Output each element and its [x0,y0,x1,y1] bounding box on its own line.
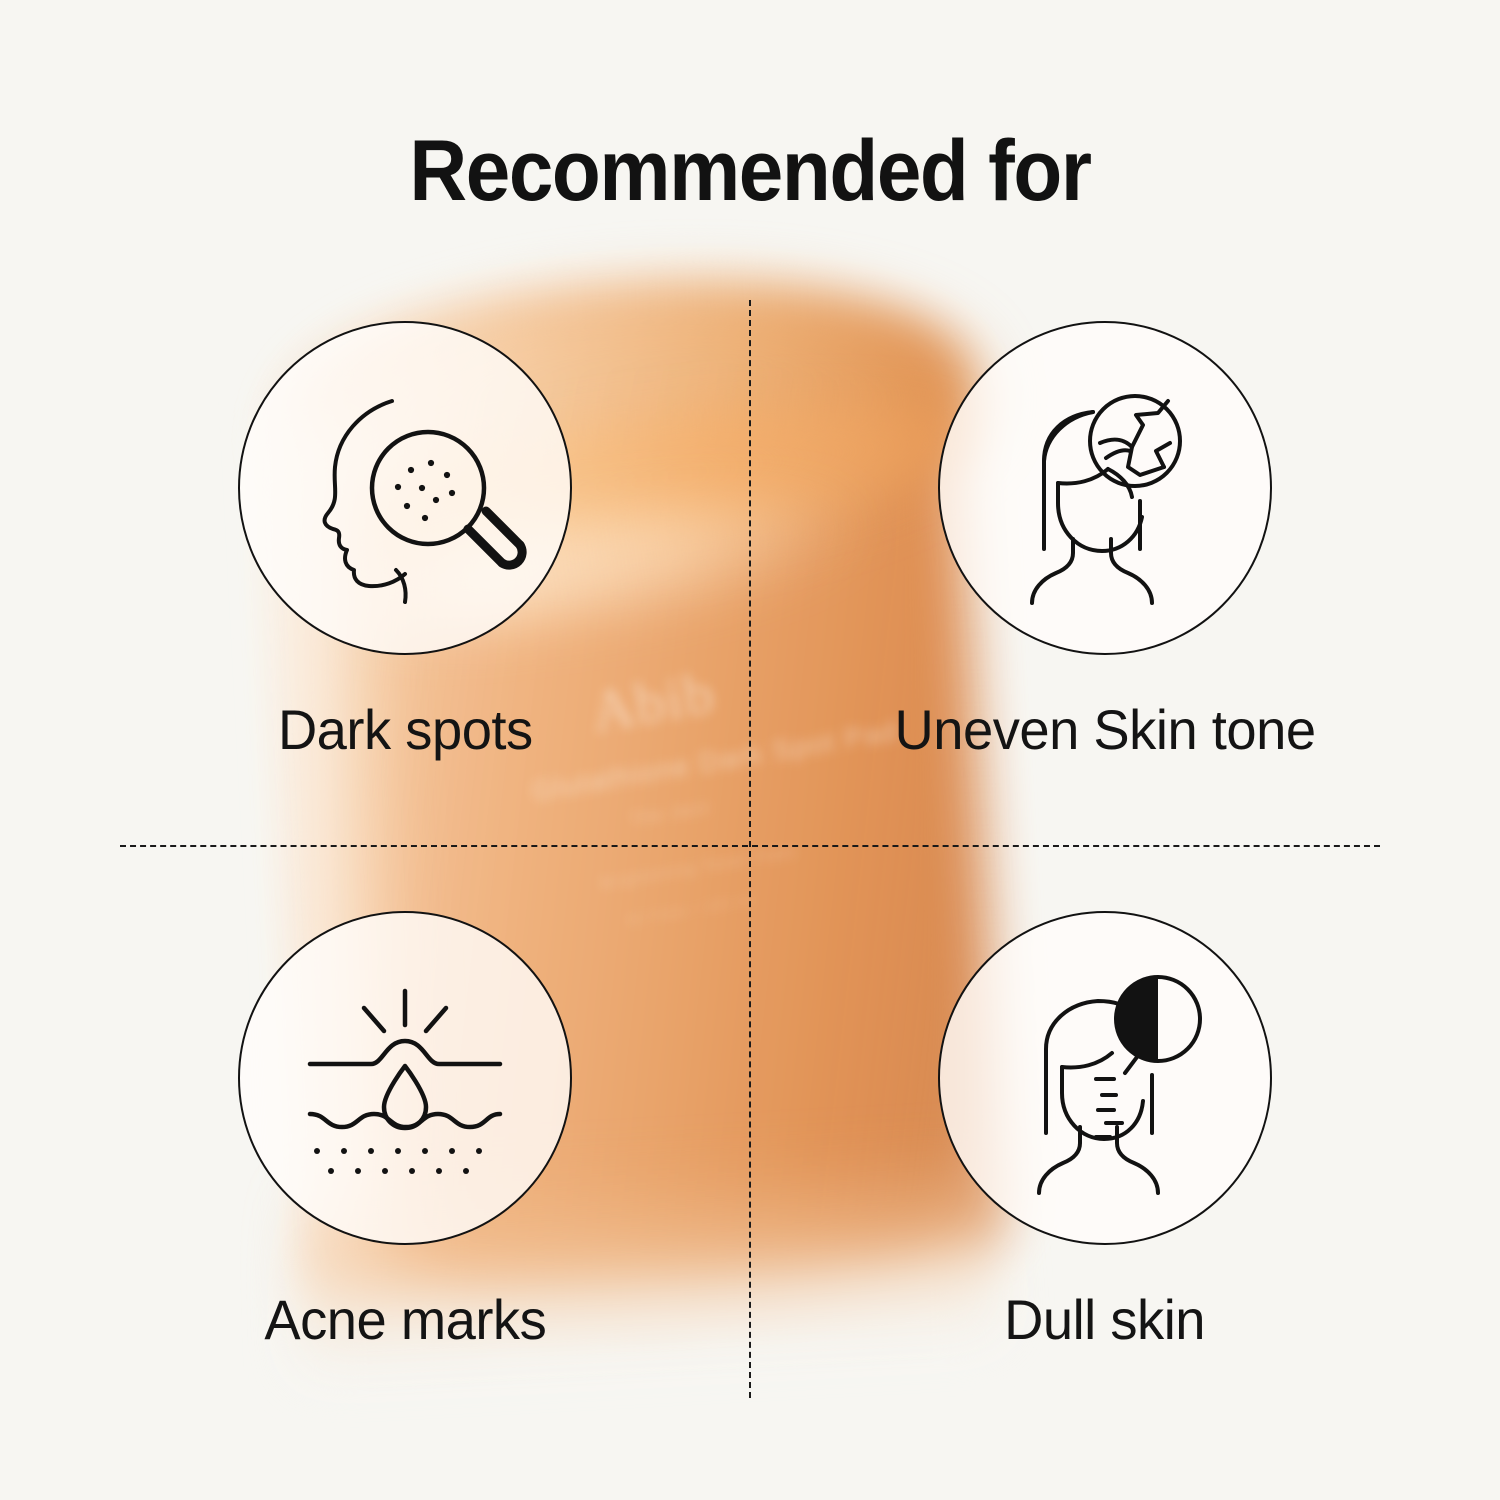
woman-patchy-tone-icon [980,363,1230,613]
face-magnifier-spots-icon [280,363,530,613]
quadrant-uneven-skin-tone: Uneven Skin tone [855,321,1355,762]
quadrant-label-dark-spots: Dark spots [278,697,533,762]
icon-circle-acne-marks [238,911,572,1245]
icon-circle-dull-skin [938,911,1272,1245]
quadrant-acne-marks: Acne marks [155,911,655,1352]
woman-half-tone-circle-icon [980,953,1230,1203]
vertical-dashed-divider [749,300,751,1398]
quadrant-label-uneven-skin-tone: Uneven Skin tone [894,697,1315,762]
product-descriptor-text: Brightening Toner Pads [599,843,798,894]
product-subline-text: The Jazz [629,797,712,830]
quadrant-label-acne-marks: Acne marks [264,1287,546,1352]
horizontal-dashed-divider [120,845,1380,847]
page-title: Recommended for [53,122,1448,221]
icon-circle-dark-spots [238,321,572,655]
skin-layers-blemish-icon [280,953,530,1203]
quadrant-dull-skin: Dull skin [855,911,1355,1352]
recommended-for-infographic: Abib Glutathione Dark Spot Pad The Jazz … [0,0,1500,1500]
quadrant-dark-spots: Dark spots [155,321,655,762]
quadrant-label-dull-skin: Dull skin [1005,1287,1206,1352]
icon-circle-uneven-skin-tone [938,321,1272,655]
